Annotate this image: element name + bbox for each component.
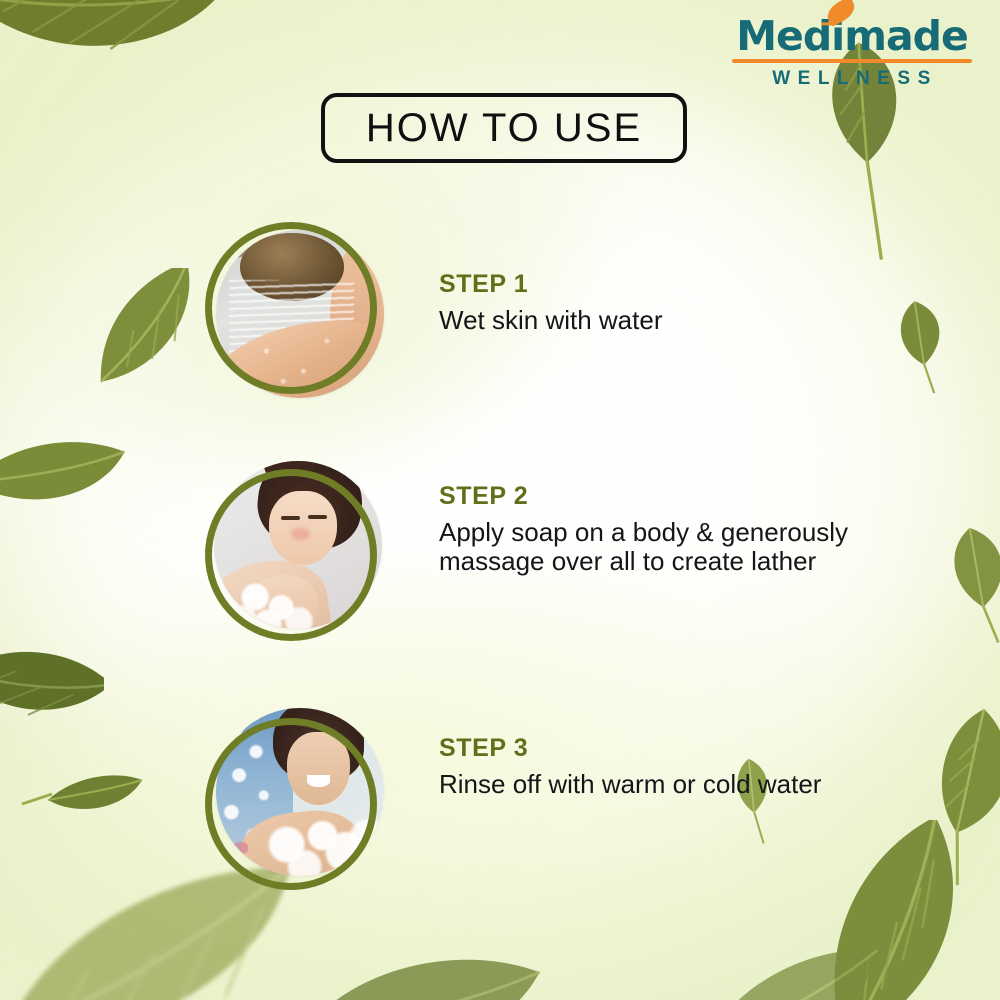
brand-logo: Medimade WELLNESS — [732, 16, 972, 90]
step-3-text: STEP 3 Rinse off with warm or cold water — [439, 734, 869, 799]
step-3-description: Rinse off with warm or cold water — [439, 770, 869, 799]
step-2-label: STEP 2 — [439, 482, 869, 511]
step-2-description: Apply soap on a body & generously massag… — [439, 518, 869, 577]
leaf-icon-bottom-center — [300, 930, 540, 1000]
step-1-label: STEP 1 — [439, 270, 869, 299]
step-2-ring — [205, 469, 377, 641]
step-1-text: STEP 1 Wet skin with water — [439, 270, 869, 335]
step-item-2: STEP 2 Apply soap on a body & generously… — [0, 461, 1000, 651]
page-title: HOW TO USE — [366, 106, 642, 151]
brand-name-wrap: Medimade — [736, 16, 968, 57]
poster-canvas: Medimade WELLNESS HOW TO USE STEP 1 Wet … — [0, 0, 1000, 1000]
step-2-text: STEP 2 Apply soap on a body & generously… — [439, 482, 869, 577]
brand-name: Medimade — [736, 12, 968, 60]
leaf-icon-top-left — [0, 0, 230, 134]
leaf-icon-bottom-right-small — [690, 944, 890, 1000]
step-1-description: Wet skin with water — [439, 306, 869, 335]
step-1-ring — [205, 222, 377, 394]
step-3-label: STEP 3 — [439, 734, 869, 763]
page-title-box: HOW TO USE — [321, 93, 687, 163]
step-3-ring — [205, 718, 377, 890]
brand-tagline: WELLNESS — [732, 68, 972, 90]
step-item-3: STEP 3 Rinse off with warm or cold water — [0, 708, 1000, 898]
step-item-1: STEP 1 Wet skin with water — [0, 222, 1000, 412]
